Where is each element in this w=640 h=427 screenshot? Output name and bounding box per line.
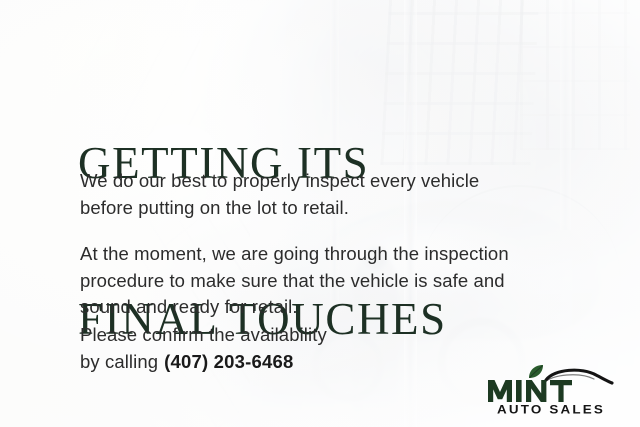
contact-line-1: Please confirm the availability (80, 322, 327, 349)
contact-line-2: by calling(407) 203-6468 (80, 349, 327, 376)
logo-tagline-text: AUTO SALES (497, 404, 605, 417)
banner-content: GETTING ITS FINAL TOUCHES We do our best… (0, 0, 640, 427)
body-paragraph-2: At the moment, we are going through the … (80, 241, 510, 321)
dealer-logo-svg: AUTO SALES (486, 364, 618, 416)
dealer-logo[interactable]: AUTO SALES (486, 364, 618, 416)
logo-brand-text (488, 380, 572, 402)
mint-leaf-icon (529, 365, 543, 378)
phone-number[interactable]: (407) 203-6468 (158, 351, 293, 372)
contact-block: Please confirm the availability by calli… (80, 322, 327, 375)
body-copy: We do our best to properly inspect every… (80, 168, 510, 321)
promo-banner: GETTING ITS FINAL TOUCHES We do our best… (0, 0, 640, 427)
body-paragraph-1: We do our best to properly inspect every… (80, 168, 510, 221)
call-prefix-label: by calling (80, 351, 158, 372)
